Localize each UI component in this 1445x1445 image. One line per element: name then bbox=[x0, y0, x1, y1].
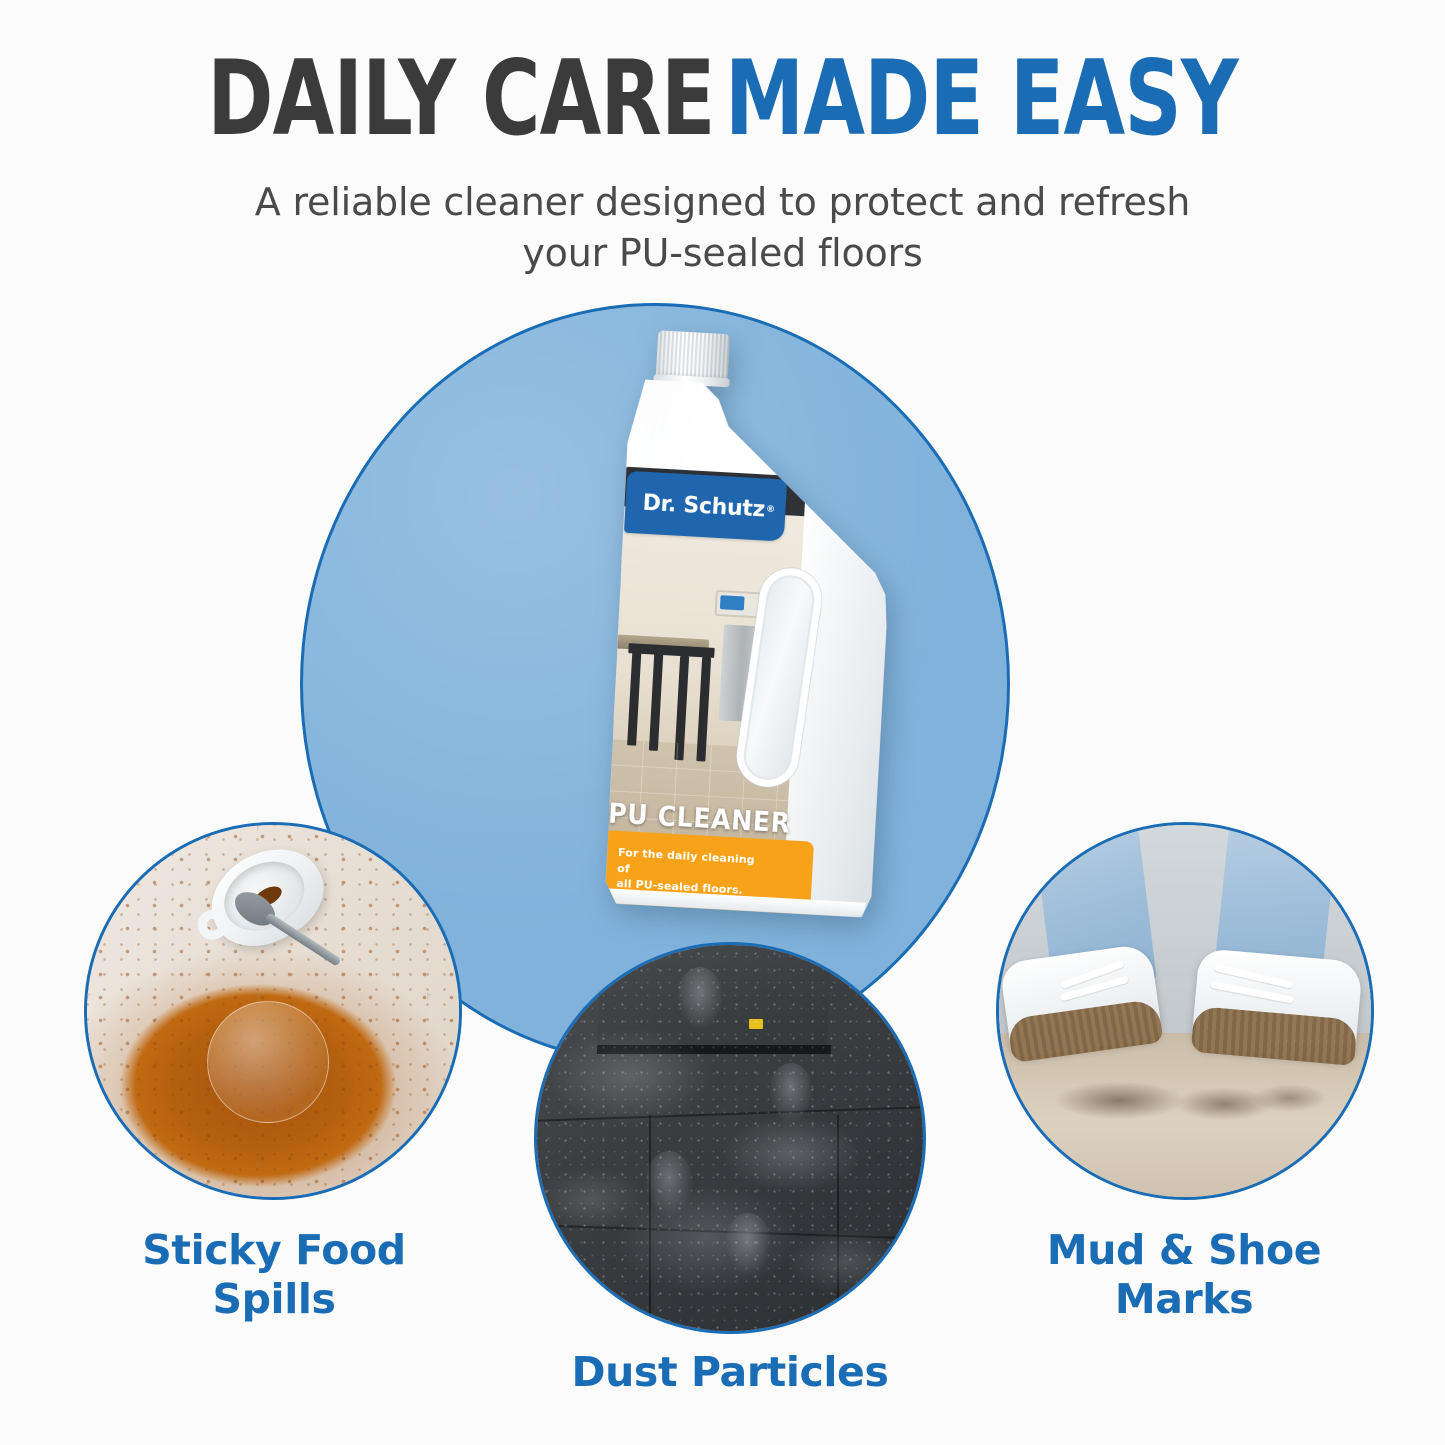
header-block: DAILY CAREMADE EASY A reliable cleaner d… bbox=[0, 46, 1445, 278]
feature-caption-line-2: Spills bbox=[74, 1275, 474, 1324]
infographic-canvas: DAILY CAREMADE EASY A reliable cleaner d… bbox=[0, 0, 1445, 1445]
feature-caption-mud-shoe-marks: Mud & Shoe Marks bbox=[984, 1226, 1384, 1324]
bottle-body: Dr. Schutz® PU CLEANER For the daily cle… bbox=[593, 378, 908, 923]
page-subtitle-line-1: A reliable cleaner designed to protect a… bbox=[0, 177, 1445, 228]
dusty-floor-photo bbox=[537, 945, 923, 1331]
page-subtitle: A reliable cleaner designed to protect a… bbox=[0, 177, 1445, 278]
mud-marks-on-floor bbox=[1021, 1071, 1348, 1131]
feature-image-mud-shoe-marks bbox=[996, 822, 1374, 1200]
feature-image-dust-particles bbox=[534, 942, 926, 1334]
registered-trademark-icon: ® bbox=[766, 505, 775, 515]
bar-stool-leg bbox=[649, 651, 664, 751]
feature-caption-line-1: Dust Particles bbox=[520, 1348, 940, 1397]
feature-caption-sticky-food-spills: Sticky Food Spills bbox=[74, 1226, 474, 1324]
feature-caption-dust-particles: Dust Particles bbox=[520, 1348, 940, 1397]
product-bottle: Dr. Schutz® PU CLEANER For the daily cle… bbox=[593, 328, 925, 924]
spill-gloss-highlight bbox=[207, 1001, 329, 1123]
page-title-blue-part: MADE EASY bbox=[725, 39, 1238, 159]
page-subtitle-line-2: your PU-sealed floors bbox=[0, 228, 1445, 279]
feature-caption-line-1: Mud & Shoe bbox=[984, 1226, 1384, 1275]
bottle-cap-icon bbox=[656, 330, 730, 380]
coffee-spill-photo bbox=[87, 825, 459, 1197]
sneaker-left bbox=[999, 943, 1163, 1059]
muddy-shoes-photo bbox=[999, 825, 1371, 1197]
dust-particles-overlay bbox=[537, 945, 923, 1331]
feature-image-sticky-food-spills bbox=[84, 822, 462, 1200]
brand-plate: Dr. Schutz® bbox=[624, 471, 787, 542]
bar-stool-leg bbox=[627, 649, 641, 745]
sneaker-right bbox=[1191, 948, 1363, 1062]
page-title: DAILY CAREMADE EASY bbox=[101, 46, 1344, 153]
page-title-dark-part: DAILY CARE bbox=[207, 39, 714, 159]
feature-caption-line-2: Marks bbox=[984, 1275, 1384, 1324]
feature-caption-line-1: Sticky Food bbox=[74, 1226, 474, 1275]
brand-name: Dr. Schutz bbox=[642, 490, 766, 522]
